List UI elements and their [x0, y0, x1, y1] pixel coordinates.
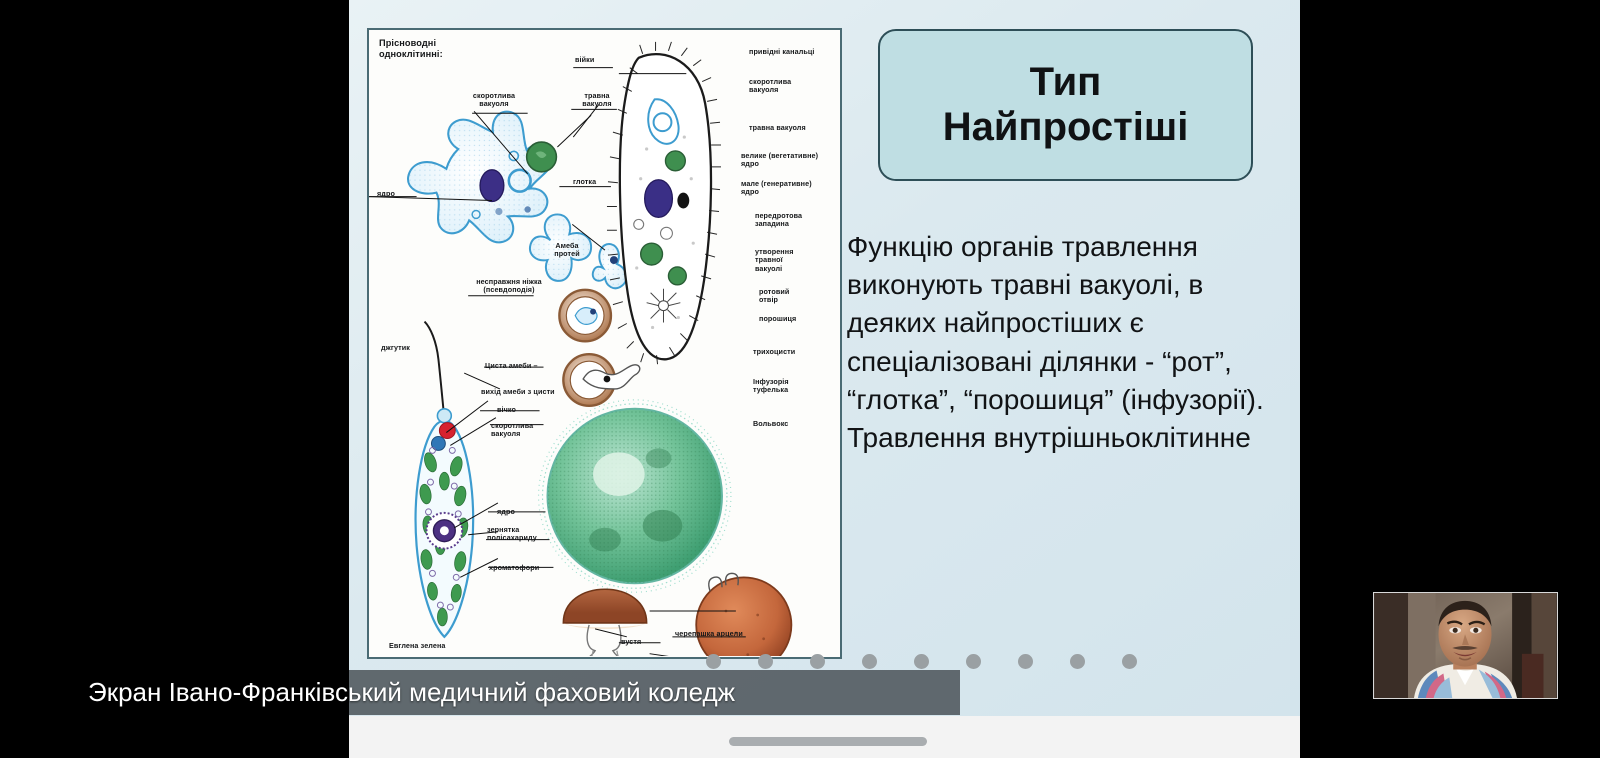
horizontal-scrollbar-thumb[interactable]	[729, 737, 927, 746]
slide-title-box: Тип Найпростіші	[878, 29, 1253, 181]
slide-nav-dot[interactable]	[1018, 654, 1033, 669]
slide-nav-dot[interactable]	[966, 654, 981, 669]
label-amoeba-exit-cyst: вихід амеби з цисти	[481, 388, 555, 396]
label-paramecium-name: Інфузорія туфелька	[753, 378, 789, 395]
horizontal-scrollbar-track[interactable]	[349, 716, 1300, 758]
app-window: Прісноводні одноклітинні: скоротлива вак…	[0, 0, 1600, 758]
label-eyespot: вічко	[497, 406, 516, 414]
bottom-bar-left-filler	[0, 716, 349, 758]
label-euglena-contractile-vacuole: скоротлива вакуоля	[491, 422, 533, 439]
label-amoeba-cyst: Циста амеби –	[485, 362, 538, 370]
label-food-vacuole-formation: утворення травної вакуолі	[755, 248, 793, 273]
label-amoeba-contractile-vacuole: скоротлива вакуоля	[455, 92, 533, 109]
label-flagellum: джгутик	[381, 344, 410, 352]
label-contractile-vacuole: скоротлива вакуоля	[749, 78, 791, 95]
label-gullet: глотка	[573, 178, 596, 186]
slide-nav-dot[interactable]	[706, 654, 721, 669]
label-pseudopodia: несправжня ніжка (псевдоподія)	[459, 278, 559, 295]
label-euglena-name: Евглена зелена	[389, 642, 446, 650]
diagram-heading: Прісноводні одноклітинні:	[379, 38, 443, 60]
bottom-bar-right-filler	[1300, 716, 1600, 758]
label-volvox-name: Вольвокс	[753, 420, 788, 428]
label-euglena-nucleus: ядро	[497, 508, 515, 516]
label-arcella-shell: черепашка арцели	[675, 630, 743, 638]
slide-nav-dots[interactable]	[706, 650, 1266, 672]
label-oral-groove: передротова западина	[755, 212, 802, 229]
label-amoeba-nucleus: ядро	[377, 190, 395, 198]
slide-title: Тип Найпростіші	[943, 60, 1189, 150]
screen-share-caption: Экран Івано-Франківський медичний фахови…	[88, 672, 735, 712]
label-arcella-mouth: вустя	[621, 638, 641, 646]
label-afferent-canals: привідні канальці	[749, 48, 815, 56]
label-mouth-opening: ротовий отвір	[759, 288, 789, 305]
label-macronucleus: велике (вегетативне) ядро	[741, 152, 818, 169]
slide-nav-dot[interactable]	[1122, 654, 1137, 669]
slide-body-paragraph: Функцію органів травлення виконують трав…	[847, 228, 1277, 457]
label-amoeba-name: Амеба протей	[537, 242, 597, 259]
label-food-vacuole: травна вакуоля	[749, 124, 806, 132]
slide-nav-dot[interactable]	[914, 654, 929, 669]
bottom-bar	[0, 716, 1600, 758]
shared-screen-slide[interactable]: Прісноводні одноклітинні: скоротлива вак…	[349, 0, 1300, 716]
label-trichocysts: трихоцисти	[753, 348, 795, 356]
slide-nav-dot[interactable]	[862, 654, 877, 669]
participant-video-frame	[1374, 593, 1557, 698]
slide-nav-dot[interactable]	[1070, 654, 1085, 669]
amoeba-cyst-illustration	[559, 290, 611, 342]
label-cilia: війки	[575, 56, 594, 64]
label-cytoproct: порошиця	[759, 315, 796, 323]
biology-diagram-poster: Прісноводні одноклітинні: скоротлива вак…	[367, 28, 842, 659]
participant-video-thumbnail[interactable]	[1373, 592, 1558, 699]
label-chromatophores: хроматофори	[489, 564, 539, 572]
slide-body-text: Функцію органів травлення виконують трав…	[847, 228, 1277, 457]
label-food-vacuole-top: травна вакуоля	[569, 92, 625, 109]
slide-nav-dot[interactable]	[758, 654, 773, 669]
slide-nav-dot[interactable]	[810, 654, 825, 669]
label-polysaccharide-granules: зернятка полісахариду	[487, 526, 537, 543]
label-micronucleus: мале (генеративне) ядро	[741, 180, 812, 197]
